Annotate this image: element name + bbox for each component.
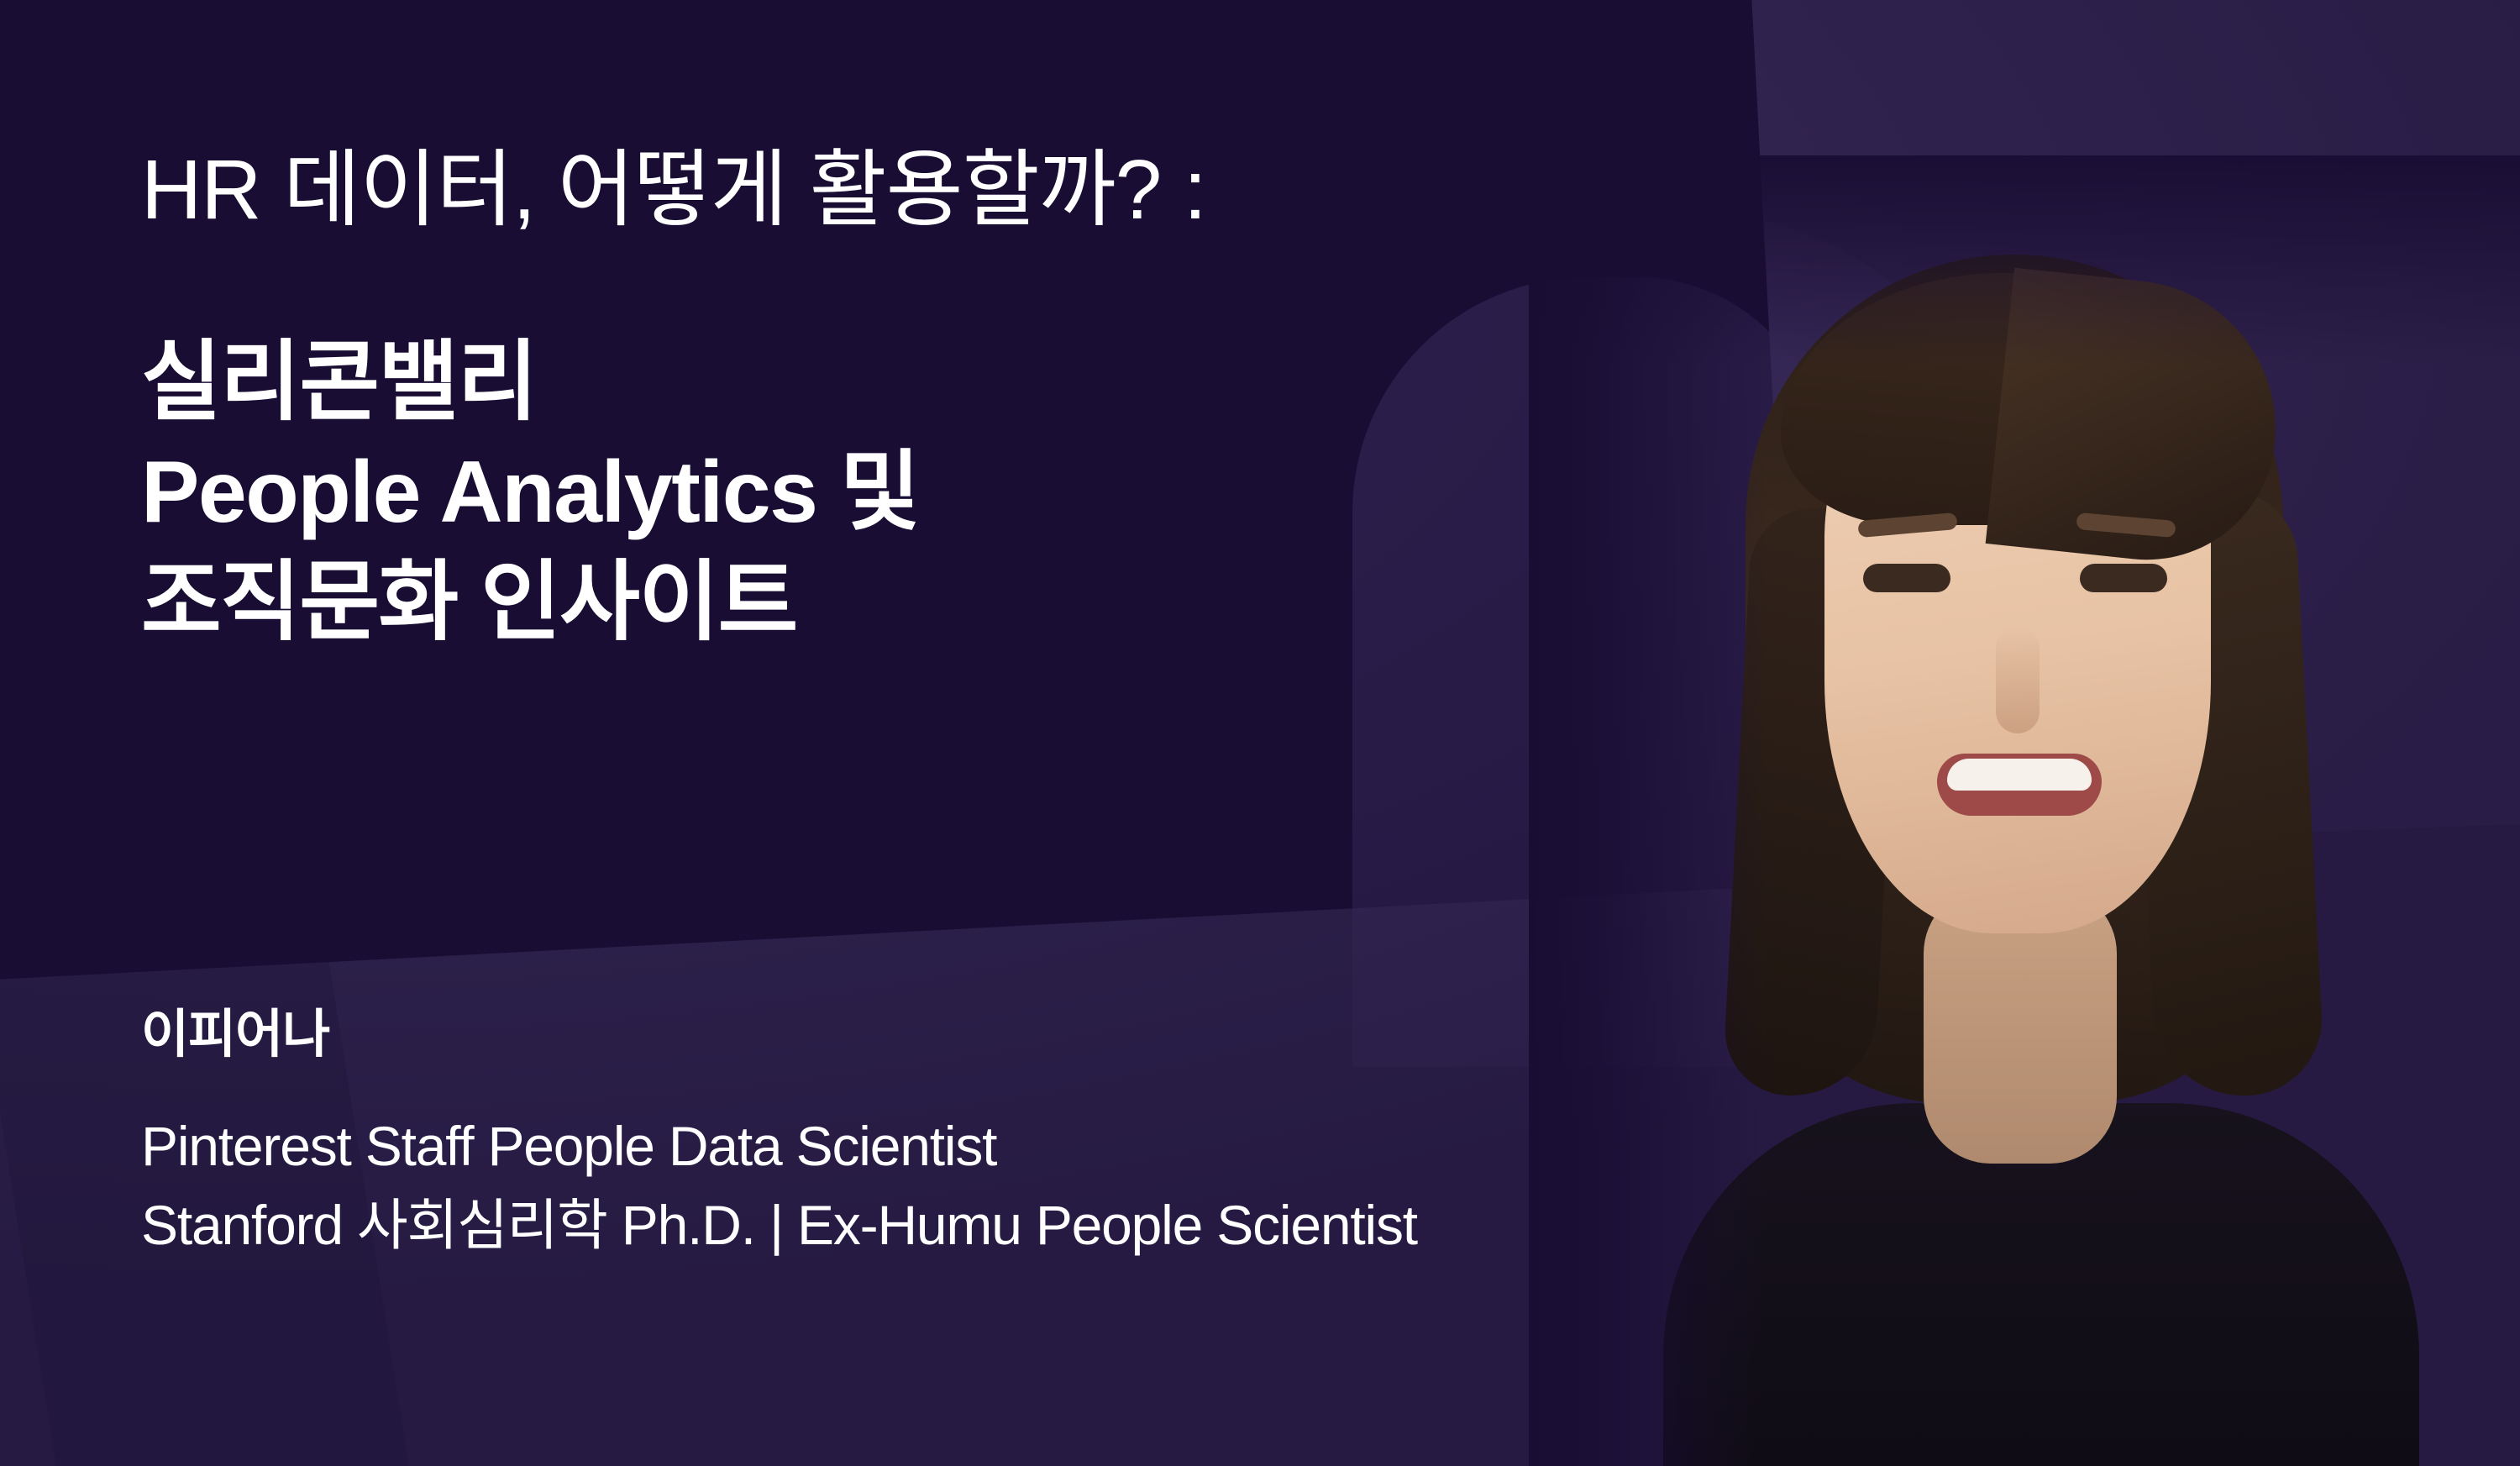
speaker-credentials: Pinterest Staff People Data Scientist St… (141, 1107, 1417, 1264)
page-title: 실리콘밸리 People Analytics 및 조직문화 인사이트 (141, 328, 919, 658)
banner-text-block: HR 데이터, 어떻게 활용할까? : 실리콘밸리 People Analyti… (141, 0, 1779, 1466)
speaker-credential-line-1: Pinterest Staff People Data Scientist (141, 1107, 1417, 1186)
title-kicker: HR 데이터, 어떻게 활용할까? : (141, 143, 1206, 237)
title-line-3: 조직문화 인사이트 (141, 548, 919, 658)
title-line-1: 실리콘밸리 (141, 328, 919, 438)
webinar-promo-banner: HR 데이터, 어떻게 활용할까? : 실리콘밸리 People Analyti… (0, 0, 2520, 1466)
speaker-name: 이피어나 (141, 991, 329, 1067)
title-line-2: People Analytics 및 (141, 438, 919, 548)
speaker-credential-line-2: Stanford 사회심리학 Ph.D. | Ex-Humu People Sc… (141, 1186, 1417, 1265)
